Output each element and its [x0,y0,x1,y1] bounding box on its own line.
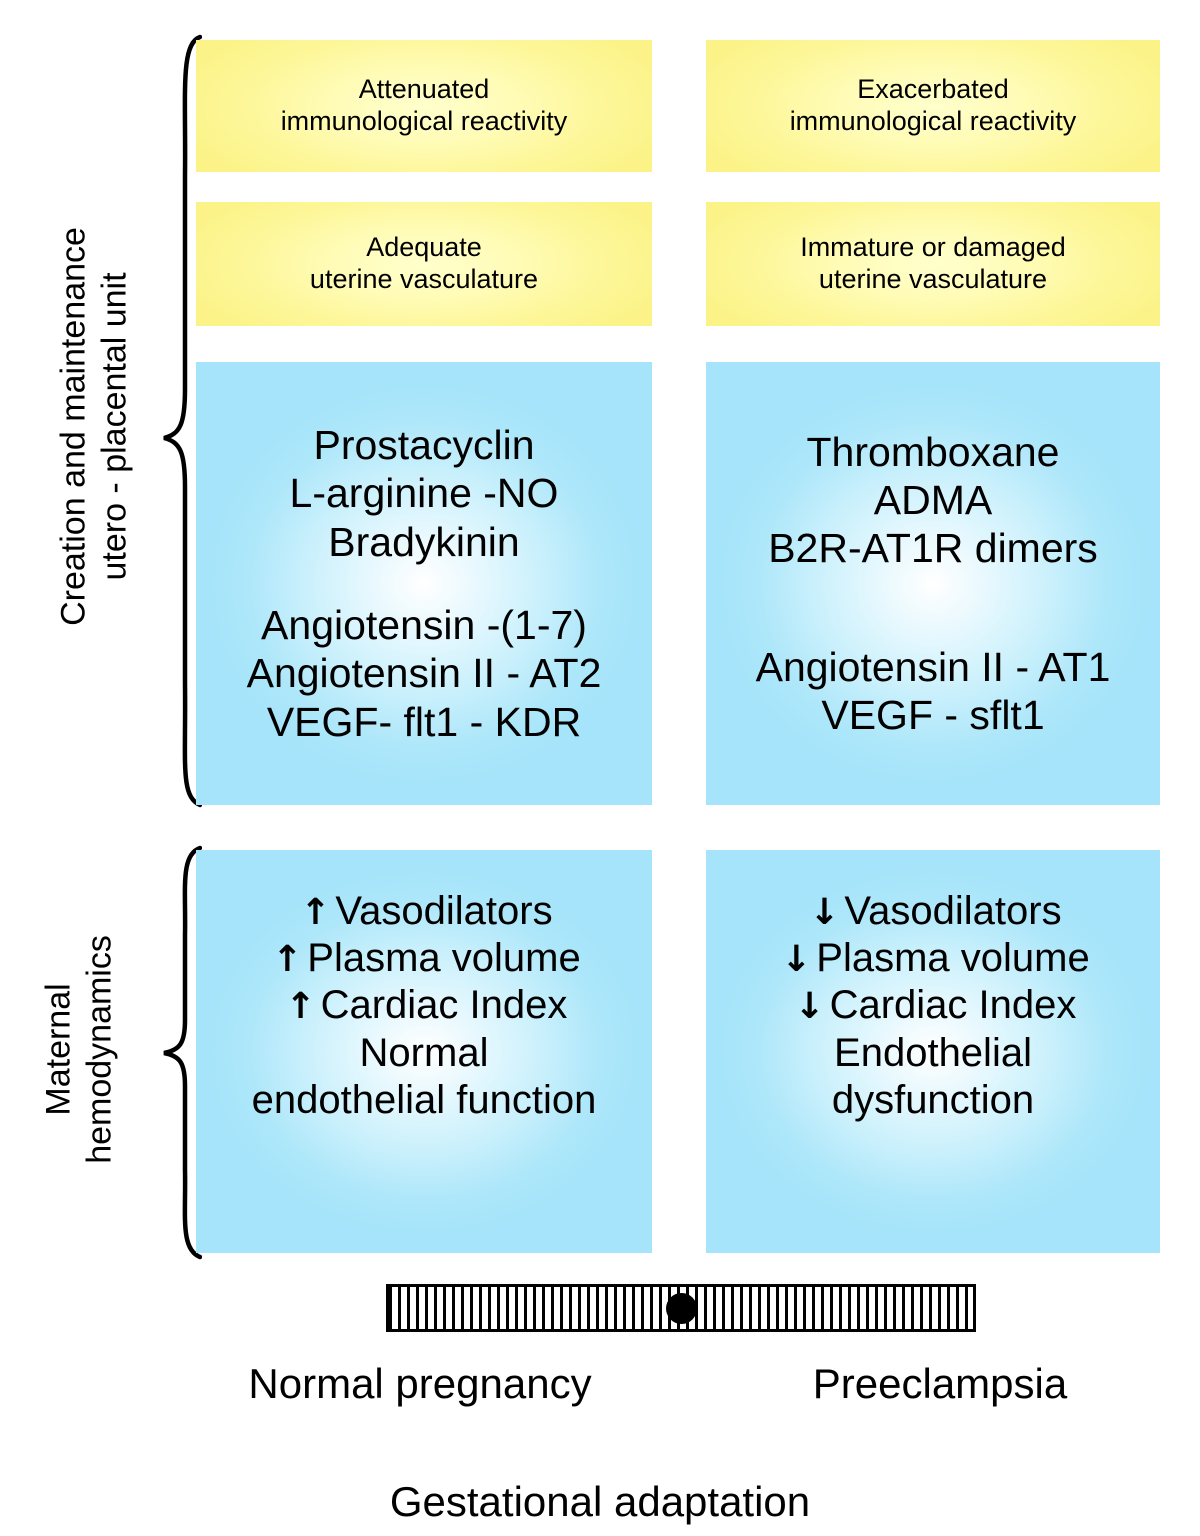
box-line: immunological reactivity [281,106,568,138]
hemodynamic-row: ↓ Cardiac Index [790,982,1077,1029]
box-vasculature-normal-pregnancy: Adequate uterine vasculature [196,202,652,326]
box-line: B2R-AT1R dimers [768,524,1098,572]
hemodynamic-label: Vasodilators [844,888,1061,935]
box-line: ADMA [874,476,992,524]
hemodynamic-label: endothelial function [252,1077,597,1124]
box-hemodynamics-preeclampsia: ↓ Vasodilators ↓ Plasma volume ↓ Cardiac… [706,850,1160,1253]
hemodynamic-row: ↑ Vasodilators [295,888,552,935]
hemodynamic-label: Cardiac Index [321,982,568,1029]
box-mediators-preeclampsia: Thromboxane ADMA B2R-AT1R dimers Angiote… [706,362,1160,805]
box-line: Attenuated [359,74,490,106]
hemodynamic-label: Normal [360,1030,489,1077]
box-line: Thromboxane [807,428,1060,476]
hemodynamic-label: dysfunction [832,1077,1034,1124]
row-label-line-1: Maternal [39,849,80,1249]
up-arrow-icon: ↑ [281,986,321,1028]
down-arrow-icon: ↓ [776,939,816,981]
hemodynamic-row: ↓ Vasodilators [804,888,1061,935]
axis-label-normal-pregnancy: Normal pregnancy [140,1360,700,1408]
box-immunology-preeclampsia: Exacerbated immunological reactivity [706,40,1160,172]
box-line: VEGF- flt1 - KDR [267,698,581,746]
figure-caption: Gestational adaptation [0,1478,1200,1526]
box-line: Prostacyclin [313,421,534,469]
box-hemodynamics-normal-pregnancy: ↑ Vasodilators ↑ Plasma volume ↑ Cardiac… [196,850,652,1253]
box-line: Bradykinin [328,518,519,566]
axis-label-preeclampsia: Preeclampsia [700,1360,1180,1408]
box-line: Immature or damaged [800,232,1066,264]
box-line: Exacerbated [857,74,1009,106]
hemodynamic-label: Endothelial [834,1030,1032,1077]
hemodynamic-label: Vasodilators [335,888,552,935]
hemodynamic-row: ↑ Cardiac Index [281,982,568,1029]
down-arrow-icon: ↓ [804,892,844,934]
down-arrow-icon: ↓ [790,986,830,1028]
hemodynamic-label: Cardiac Index [830,982,1077,1029]
hemodynamic-row: ↑ Plasma volume [267,935,580,982]
box-line: Angiotensin II - AT1 [756,643,1111,691]
box-line: uterine vasculature [819,264,1047,296]
box-line: uterine vasculature [310,264,538,296]
box-mediators-normal-pregnancy: Prostacyclin L-arginine -NO Bradykinin A… [196,362,652,805]
hemodynamic-label: Plasma volume [307,935,580,982]
up-arrow-icon: ↑ [295,892,335,934]
box-line: immunological reactivity [790,106,1077,138]
row-label-creation-maintenance: Creation and maintenance utero - placent… [54,146,137,706]
box-line: Adequate [366,232,482,264]
box-line: Angiotensin II - AT2 [247,649,602,697]
row-label-line-2: utero - placental unit [95,146,136,706]
box-line: L-arginine -NO [290,469,559,517]
box-line: Angiotensin -(1-7) [261,601,587,649]
box-line: VEGF - sflt1 [821,691,1044,739]
box-vasculature-preeclampsia: Immature or damaged uterine vasculature [706,202,1160,326]
row-label-maternal-hemodynamics: Maternal hemodynamics [39,849,122,1249]
row-label-line-1: Creation and maintenance [54,146,95,706]
scale-marker-dot[interactable] [666,1293,697,1324]
box-immunology-normal-pregnancy: Attenuated immunological reactivity [196,40,652,172]
up-arrow-icon: ↑ [267,939,307,981]
row-label-line-2: hemodynamics [80,849,121,1249]
hemodynamic-row: ↓ Plasma volume [776,935,1089,982]
hemodynamic-label: Plasma volume [816,935,1089,982]
